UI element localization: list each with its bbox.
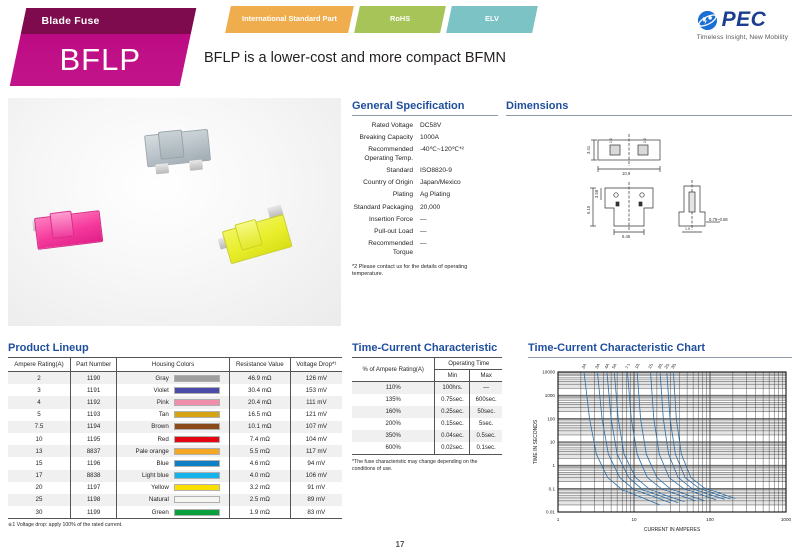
table-row: 200%0.15sec.5sec.: [352, 418, 502, 430]
cell-part-number: 1194: [70, 421, 116, 433]
cell-resistance: 1.9 mΩ: [229, 506, 290, 519]
svg-text:0.01: 0.01: [546, 510, 555, 515]
dimensions-title: Dimensions: [506, 100, 792, 115]
cell-max: 600sec.: [470, 394, 502, 406]
housing-color-swatch: [174, 496, 220, 503]
spec-value: 1000A: [420, 134, 498, 142]
table-row: 160%0.25sec.50sec.: [352, 406, 502, 418]
cell-housing-color: Blue: [117, 457, 230, 469]
cell-ampere: 5: [8, 409, 70, 421]
cell-ampere: 15: [8, 457, 70, 469]
chart-title: Time-Current Characteristic Chart: [528, 342, 792, 357]
cell-percent: 600%: [352, 442, 435, 455]
table-row: 110%100hrs.—: [352, 382, 502, 395]
cell-percent: 160%: [352, 406, 435, 418]
column-header-percent: % of Ampere Rating(A): [352, 358, 435, 382]
cell-housing-color: Yellow: [117, 482, 230, 494]
general-specification-list: Rated VoltageDC58VBreaking Capacity1000A…: [352, 122, 498, 257]
spec-row: Recommended Torque—: [352, 240, 498, 256]
housing-color-name: Light blue: [142, 472, 169, 479]
badge-rohs: RoHS: [354, 6, 446, 33]
housing-color-name: Brown: [151, 423, 169, 430]
table-row: 251198Natural2.5 mΩ89 mV: [8, 494, 342, 506]
spec-row: StandardISO8820-9: [352, 167, 498, 175]
housing-color-name: Gray: [155, 375, 168, 382]
spec-row: Breaking Capacity1000A: [352, 134, 498, 142]
fuse-photo-pink: [27, 203, 111, 262]
housing-color-name: Tan: [159, 411, 169, 418]
svg-text:0.1: 0.1: [549, 486, 556, 491]
table-row: 135%0.75sec.600sec.: [352, 394, 502, 406]
badge-label: ELV: [485, 15, 499, 24]
dim-top-width-label: 10.9: [622, 171, 631, 176]
column-header-voltage-drop: Voltage Drop*¹: [290, 358, 342, 372]
spec-row: PlatingAg Plating: [352, 191, 498, 199]
page-number: 17: [0, 540, 800, 549]
housing-color-swatch: [174, 423, 220, 430]
housing-color-name: Violet: [153, 387, 168, 394]
table-header-row-group: % of Ampere Rating(A) Operating Time: [352, 358, 502, 370]
svg-text:10000: 10000: [542, 370, 555, 375]
page-header: Blade Fuse BFLP International Standard P…: [0, 0, 800, 92]
cell-ampere: 20: [8, 482, 70, 494]
section-divider: [352, 115, 498, 116]
spec-value: 20,000: [420, 204, 498, 212]
svg-text:1000: 1000: [781, 517, 792, 522]
category-label: Blade Fuse: [24, 8, 194, 34]
housing-color-name: Red: [157, 436, 168, 443]
cell-resistance: 16.5 mΩ: [229, 409, 290, 421]
svg-text:100: 100: [706, 517, 714, 522]
housing-color-swatch: [174, 387, 220, 394]
housing-color-name: Blue: [156, 460, 168, 467]
spec-row: Pull-out Load—: [352, 228, 498, 236]
spec-label: Country of Origin: [352, 179, 420, 187]
chart-series-label: 15A: [647, 364, 655, 370]
svg-text:100: 100: [547, 416, 555, 421]
cell-min: 0.25sec.: [435, 406, 470, 418]
cell-ampere: 3: [8, 384, 70, 396]
cell-voltage-drop: 153 mV: [290, 384, 342, 396]
table-row: 350%0.04sec.0.5sec.: [352, 430, 502, 442]
cell-part-number: 1191: [70, 384, 116, 396]
cell-voltage-drop: 94 mV: [290, 457, 342, 469]
cell-voltage-drop: 104 mV: [290, 433, 342, 445]
svg-text:1000: 1000: [545, 393, 556, 398]
cell-ampere: 7.5: [8, 421, 70, 433]
product-title-block: Blade Fuse BFLP: [10, 8, 197, 86]
cell-max: 0.1sec.: [470, 442, 502, 455]
dim-front-width-label: 6.46: [622, 234, 631, 239]
housing-color-swatch: [174, 436, 220, 443]
cell-min: 0.04sec.: [435, 430, 470, 442]
table-row: 138837Pale orange5.5 mΩ117 mV: [8, 445, 342, 457]
cell-housing-color: Violet: [117, 384, 230, 396]
logo-tagline: Timeless Insight, New Mobility: [697, 34, 788, 41]
cell-ampere: 17: [8, 470, 70, 482]
spec-row: Standard Packaging20,000: [352, 204, 498, 212]
cell-min: 0.15sec.: [435, 418, 470, 430]
dim-front-small-label: 3.58: [594, 189, 599, 198]
badge-elv: ELV: [446, 6, 538, 33]
company-logo: PEC Timeless Insight, New Mobility: [697, 8, 788, 41]
spec-label: Standard Packaging: [352, 204, 420, 212]
spec-row: Recommended Operating Temp.-40℃~120℃*²: [352, 146, 498, 162]
table-row: 51193Tan16.5 mΩ121 mV: [8, 409, 342, 421]
logo-wordmark: PEC: [722, 8, 767, 32]
time-current-note: *The fuse characteristic may change depe…: [352, 459, 502, 473]
fuse-photo-gray: [138, 124, 219, 180]
table-row: 201197Yellow3.2 mΩ91 mV: [8, 482, 342, 494]
chart-series-label: 4A: [603, 364, 610, 370]
cell-resistance: 7.4 mΩ: [229, 433, 290, 445]
cell-housing-color: Pink: [117, 396, 230, 408]
fuse-photo-yellow: [212, 206, 303, 278]
cell-part-number: 1196: [70, 457, 116, 469]
cell-resistance: 46.9 mΩ: [229, 372, 290, 385]
cell-part-number: 1192: [70, 396, 116, 408]
dim-top-height-label: 3.41: [586, 145, 591, 154]
svg-text:10: 10: [631, 517, 637, 522]
cell-ampere: 10: [8, 433, 70, 445]
cell-resistance: 30.4 mΩ: [229, 384, 290, 396]
section-divider: [528, 357, 792, 358]
housing-color-swatch: [174, 509, 220, 516]
spec-label: Insertion Force: [352, 216, 420, 224]
housing-color-name: Yellow: [151, 484, 169, 491]
spec-label: Rated Voltage: [352, 122, 420, 130]
column-header-part-number: Part Number: [70, 358, 116, 372]
cell-percent: 135%: [352, 394, 435, 406]
cell-voltage-drop: 126 mV: [290, 372, 342, 385]
svg-text:2.8: 2.8: [609, 138, 613, 143]
product-lineup-table: Ampere Rating(A) Part Number Housing Col…: [8, 357, 342, 519]
dimension-drawing-svg: 3.41 10.9 2.8 2.8 3.58 6.15: [506, 122, 792, 250]
product-lineup-section: Product Lineup Ampere Rating(A) Part Num…: [8, 342, 342, 528]
spec-value: ISO8820-9: [420, 167, 498, 175]
spec-row: Insertion Force—: [352, 216, 498, 224]
cell-voltage-drop: 111 mV: [290, 396, 342, 408]
cell-resistance: 20.4 mΩ: [229, 396, 290, 408]
housing-color-swatch: [174, 411, 220, 418]
cell-ampere: 4: [8, 396, 70, 408]
cell-housing-color: Red: [117, 433, 230, 445]
cell-resistance: 4.6 mΩ: [229, 457, 290, 469]
housing-color-swatch: [174, 448, 220, 455]
cell-max: 5sec.: [470, 418, 502, 430]
cell-voltage-drop: 107 mV: [290, 421, 342, 433]
dimensions-section: Dimensions 3.41 10.9 2.8 2.8: [506, 100, 792, 252]
cell-voltage-drop: 117 mV: [290, 445, 342, 457]
cell-ampere: 13: [8, 445, 70, 457]
table-row: 178838Light blue4.0 mΩ106 mV: [8, 470, 342, 482]
spec-value: —: [420, 240, 498, 256]
product-photo: [8, 98, 341, 326]
spec-label: Pull-out Load: [352, 228, 420, 236]
chart-series-label: 10A: [634, 364, 642, 370]
cell-resistance: 3.2 mΩ: [229, 482, 290, 494]
cell-ampere: 2: [8, 372, 70, 385]
cell-housing-color: Tan: [117, 409, 230, 421]
cell-part-number: 1195: [70, 433, 116, 445]
dim-side-base-label: 1.5: [685, 227, 690, 231]
housing-color-name: Pale orange: [135, 448, 168, 455]
dim-side-thickness-label: 0.79~0.86: [709, 217, 728, 222]
cell-percent: 110%: [352, 382, 435, 395]
product-lineup-title: Product Lineup: [8, 342, 342, 357]
spec-value: Ag Plating: [420, 191, 498, 199]
badge-label: RoHS: [390, 15, 410, 24]
table-row: 301199Green1.9 mΩ83 mV: [8, 506, 342, 519]
time-current-chart-section: Time-Current Characteristic Chart 110100…: [528, 342, 792, 547]
spec-value: —: [420, 216, 498, 224]
column-header-ampere: Ampere Rating(A): [8, 358, 70, 372]
cell-voltage-drop: 106 mV: [290, 470, 342, 482]
time-current-title: Time-Current Characteristic: [352, 342, 502, 357]
spec-label: Breaking Capacity: [352, 134, 420, 142]
cell-housing-color: Light blue: [117, 470, 230, 482]
table-row: 31191Violet30.4 mΩ153 mV: [8, 384, 342, 396]
column-header-operating-time: Operating Time: [435, 358, 502, 370]
badge-list: International Standard Part RoHS ELV: [228, 6, 535, 33]
dimension-drawings: 3.41 10.9 2.8 2.8 3.58 6.15: [506, 122, 792, 252]
cell-max: —: [470, 382, 502, 395]
housing-color-name: Pink: [157, 399, 169, 406]
cell-part-number: 8837: [70, 445, 116, 457]
cell-part-number: 1190: [70, 372, 116, 385]
spec-row: Country of OriginJapan/Mexico: [352, 179, 498, 187]
cell-housing-color: Green: [117, 506, 230, 519]
product-lineup-note: ※1 Voltage drop: apply 100% of the rated…: [8, 522, 342, 528]
table-row: 21190Gray46.9 mΩ126 mV: [8, 372, 342, 385]
table-row: 600%0.02sec.0.1sec.: [352, 442, 502, 455]
svg-text:2.8: 2.8: [643, 138, 647, 143]
pec-globe-icon: [697, 10, 718, 31]
cell-ampere: 25: [8, 494, 70, 506]
cell-voltage-drop: 121 mV: [290, 409, 342, 421]
housing-color-swatch: [174, 472, 220, 479]
product-tagline: BFLP is a lower-cost and more compact BF…: [204, 50, 506, 66]
column-header-resistance: Resistance Value: [229, 358, 290, 372]
general-specification-title: General Specification: [352, 100, 498, 115]
chart-series-label: 2A: [581, 364, 588, 370]
housing-color-name: Green: [152, 509, 169, 516]
cell-part-number: 1199: [70, 506, 116, 519]
housing-color-swatch: [174, 399, 220, 406]
housing-color-swatch: [174, 460, 220, 467]
cell-resistance: 4.0 mΩ: [229, 470, 290, 482]
column-header-max: Max: [470, 370, 502, 382]
column-header-housing-colors: Housing Colors: [117, 358, 230, 372]
cell-min: 0.02sec.: [435, 442, 470, 455]
cell-resistance: 5.5 mΩ: [229, 445, 290, 457]
spec-label: Recommended Operating Temp.: [352, 146, 420, 162]
spec-value: —: [420, 228, 498, 236]
spec-value: Japan/Mexico: [420, 179, 498, 187]
cell-min: 0.75sec.: [435, 394, 470, 406]
chart-series-label: 5A: [611, 364, 618, 370]
dim-front-height-label: 6.15: [586, 205, 591, 214]
svg-text:1: 1: [557, 517, 560, 522]
cell-voltage-drop: 89 mV: [290, 494, 342, 506]
cell-voltage-drop: 83 mV: [290, 506, 342, 519]
cell-housing-color: Pale orange: [117, 445, 230, 457]
cell-housing-color: Brown: [117, 421, 230, 433]
cell-housing-color: Natural: [117, 494, 230, 506]
spec-row: Rated VoltageDC58V: [352, 122, 498, 130]
cell-max: 0.5sec.: [470, 430, 502, 442]
spec-label: Standard: [352, 167, 420, 175]
spec-label: Plating: [352, 191, 420, 199]
badge-label: International Standard Part: [242, 15, 337, 24]
chart-series-label: 30A: [670, 364, 678, 370]
cell-resistance: 10.1 mΩ: [229, 421, 290, 433]
general-specification-note: *2 Please contact us for the details of …: [352, 264, 498, 278]
table-row: 151196Blue4.6 mΩ94 mV: [8, 457, 342, 469]
cell-percent: 350%: [352, 430, 435, 442]
cell-resistance: 2.5 mΩ: [229, 494, 290, 506]
time-current-characteristic-section: Time-Current Characteristic % of Ampere …: [352, 342, 502, 473]
table-row: 101195Red7.4 mΩ104 mV: [8, 433, 342, 445]
cell-percent: 200%: [352, 418, 435, 430]
product-name: BFLP: [15, 34, 185, 86]
cell-min: 100hrs.: [435, 382, 470, 395]
cell-housing-color: Gray: [117, 372, 230, 385]
housing-color-swatch: [174, 375, 220, 382]
cell-part-number: 1198: [70, 494, 116, 506]
svg-text:TIME IN SECONDS: TIME IN SECONDS: [533, 419, 539, 464]
svg-text:10: 10: [550, 440, 556, 445]
spec-value: -40℃~120℃*²: [420, 146, 498, 162]
column-header-min: Min: [435, 370, 470, 382]
cell-max: 50sec.: [470, 406, 502, 418]
section-divider: [506, 115, 792, 116]
cell-voltage-drop: 91 mV: [290, 482, 342, 494]
svg-text:CURRENT IN AMPERES: CURRENT IN AMPERES: [644, 527, 701, 533]
time-current-chart: 11010010000.010.1110100100010000CURRENT …: [528, 364, 792, 542]
housing-color-name: Natural: [149, 496, 169, 503]
table-row: 7.51194Brown10.1 mΩ107 mV: [8, 421, 342, 433]
badge-international-standard-part: International Standard Part: [225, 6, 354, 33]
housing-color-swatch: [174, 484, 220, 491]
general-specification-section: General Specification Rated VoltageDC58V…: [352, 100, 498, 278]
chart-series-label: 7.5A: [624, 364, 633, 370]
svg-text:1: 1: [552, 463, 555, 468]
table-header-row: Ampere Rating(A) Part Number Housing Col…: [8, 358, 342, 372]
spec-value: DC58V: [420, 122, 498, 130]
cell-part-number: 1197: [70, 482, 116, 494]
cell-ampere: 30: [8, 506, 70, 519]
chart-series-label: 3A: [594, 364, 601, 370]
spec-label: Recommended Torque: [352, 240, 420, 256]
table-row: 41192Pink20.4 mΩ111 mV: [8, 396, 342, 408]
cell-part-number: 1193: [70, 409, 116, 421]
time-current-table: % of Ampere Rating(A) Operating Time Min…: [352, 357, 502, 455]
cell-part-number: 8838: [70, 470, 116, 482]
